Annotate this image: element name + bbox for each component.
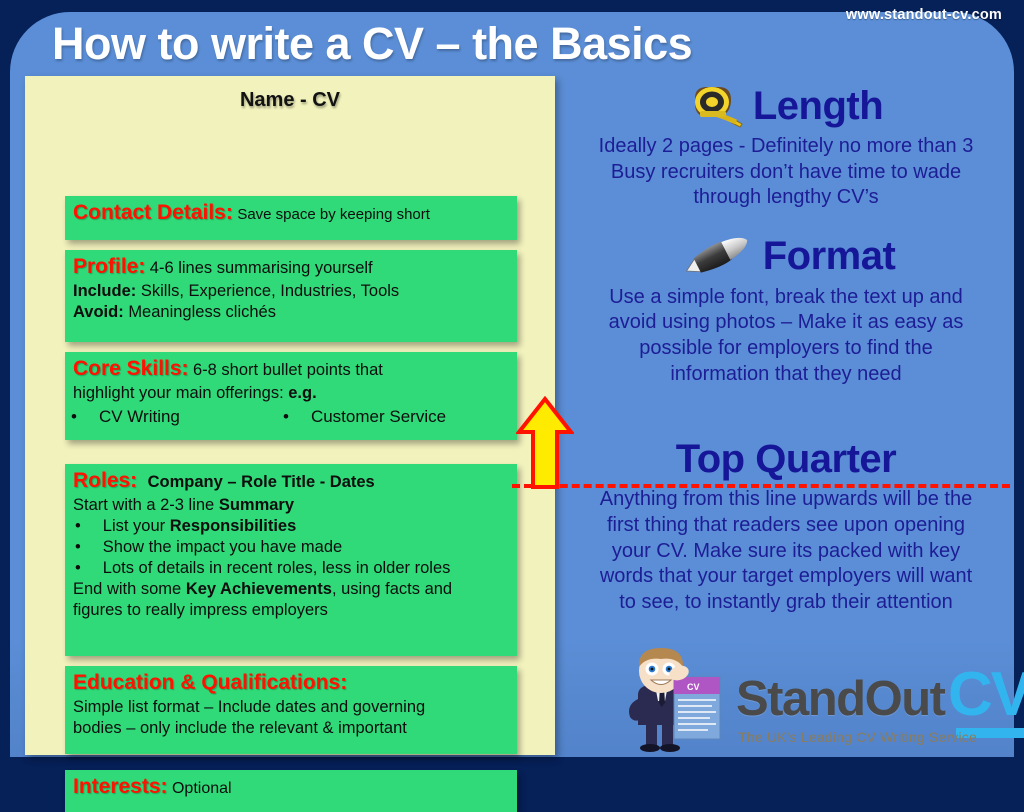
top-quarter-line-1: Anything from this line upwards will be … (560, 487, 1012, 513)
right-column: Length Ideally 2 pages - Definitely no m… (560, 84, 1012, 389)
tape-measure-icon (689, 84, 745, 128)
interests-text: Optional (172, 780, 232, 797)
top-quarter-line-2: first thing that readers see upon openin… (560, 513, 1012, 539)
length-heading: Length (753, 86, 883, 126)
profile-heading: Profile: (73, 255, 145, 278)
roles-summary-pre: Start with a 2-3 line (73, 496, 219, 514)
profile-text: 4-6 lines summarising yourself (150, 259, 373, 277)
roles-bullet-1-bold: Responsibilities (170, 517, 297, 535)
format-body: Use a simple font, break the text up and… (560, 285, 1012, 387)
roles-bullet-3: •Lots of details in recent roles, less i… (75, 558, 509, 579)
top-quarter-line-3: your CV. Make sure its packed with key (560, 539, 1012, 565)
cv-section-core-skills: Core Skills: 6-8 short bullet points tha… (65, 352, 517, 440)
interests-heading: Interests: (73, 775, 168, 798)
roles-title-line: Roles: Company – Role Title - Dates (73, 468, 509, 495)
length-block: Length Ideally 2 pages - Definitely no m… (560, 84, 1012, 211)
education-line-1: Simple list format – Include dates and g… (73, 697, 509, 718)
profile-include-line: Include: Skills, Experience, Industries,… (73, 281, 509, 302)
core-skills-text-1: 6-8 short bullet points that (193, 361, 383, 379)
roles-end-bold: Key Achievements (186, 580, 332, 598)
interests-line: Interests: Optional (73, 774, 509, 801)
standout-cv-logo[interactable]: CV StandOut CV The UK's Leading CV Writi… (608, 645, 1012, 753)
format-line-4: information that they need (560, 362, 1012, 388)
core-skills-bullet-row: •CV Writing •Customer Service (71, 406, 509, 428)
roles-summary-line: Start with a 2-3 line Summary (73, 495, 509, 516)
top-quarter-heading: Top Quarter (560, 437, 1012, 482)
core-skills-bullet-1: •CV Writing (71, 406, 283, 428)
logo-tagline: The UK's Leading CV Writing Service (738, 729, 977, 745)
contact-details-heading: Contact Details: (73, 201, 233, 224)
profile-line-1: Profile: 4-6 lines summarising yourself (73, 254, 509, 281)
cv-mockup-panel: Name - CV Contact Details: Save space by… (25, 76, 555, 755)
bullet-dot-icon: • (283, 407, 289, 426)
roles-bullet-1-pre: List your (103, 517, 170, 535)
pen-icon (677, 233, 755, 279)
core-skills-line-1: Core Skills: 6-8 short bullet points tha… (73, 356, 509, 383)
roles-end-line-1: End with some Key Achievements, using fa… (73, 579, 509, 600)
profile-include-label: Include: (73, 282, 136, 300)
length-line-3: through lengthy CV’s (560, 185, 1012, 211)
top-quarter-line-4: words that your target employers will wa… (560, 564, 1012, 590)
roles-subheading: Company – Role Title - Dates (148, 473, 375, 491)
roles-end-line-2: figures to really impress employers (73, 600, 509, 621)
top-quarter-divider-line (512, 484, 1010, 488)
top-quarter-line-5: to see, to instantly grab their attentio… (560, 590, 1012, 616)
core-skills-line-2: highlight your main offerings: e.g. (73, 383, 509, 404)
education-heading: Education & Qualifications: (73, 670, 509, 697)
cv-section-education: Education & Qualifications: Simple list … (65, 666, 517, 754)
format-heading: Format (763, 236, 896, 276)
roles-end-post: , using facts and (332, 580, 452, 598)
cv-section-interests: Interests: Optional (65, 770, 517, 812)
length-line-2: Busy recruiters don’t have time to wade (560, 160, 1012, 186)
infographic-canvas: www.standout-cv.com How to write a CV – … (0, 0, 1024, 769)
bullet-dot-icon: • (71, 407, 77, 426)
cv-section-roles: Roles: Company – Role Title - Dates Star… (65, 464, 517, 656)
profile-avoid-line: Avoid: Meaningless clichés (73, 302, 509, 323)
cv-section-contact-details: Contact Details: Save space by keeping s… (65, 196, 517, 240)
core-skills-bullet-1-label: CV Writing (99, 407, 180, 426)
contact-details-line: Contact Details: Save space by keeping s… (73, 200, 509, 227)
core-skills-eg: e.g. (288, 384, 316, 402)
cv-section-profile: Profile: 4-6 lines summarising yourself … (65, 250, 517, 342)
length-heading-row: Length (560, 84, 1012, 128)
cv-name-header: Name - CV (25, 89, 555, 112)
profile-avoid-label: Avoid: (73, 303, 124, 321)
core-skills-heading: Core Skills: (73, 357, 189, 380)
length-body: Ideally 2 pages - Definitely no more tha… (560, 134, 1012, 211)
core-skills-text-2: highlight your main offerings: (73, 384, 284, 402)
core-skills-bullet-2: •Customer Service (283, 406, 495, 428)
core-skills-bullet-2-label: Customer Service (311, 407, 446, 426)
format-line-1: Use a simple font, break the text up and (560, 285, 1012, 311)
profile-avoid-text: Meaningless clichés (128, 303, 276, 321)
format-heading-row: Format (560, 233, 1012, 279)
roles-heading: Roles: (73, 469, 137, 492)
bullet-dot-icon: • (75, 517, 81, 535)
page-title: How to write a CV – the Basics (52, 18, 692, 70)
education-line-2: bodies – only include the relevant & imp… (73, 718, 509, 739)
roles-bullet-2: •Show the impact you have made (75, 537, 509, 558)
length-line-1: Ideally 2 pages - Definitely no more tha… (560, 134, 1012, 160)
bullet-dot-icon: • (75, 538, 81, 556)
contact-details-text: Save space by keeping short (237, 206, 430, 223)
roles-bullet-3-label: Lots of details in recent roles, less in… (103, 559, 451, 577)
format-line-2: avoid using photos – Make it as easy as (560, 310, 1012, 336)
top-quarter-block: Top Quarter Anything from this line upwa… (560, 437, 1012, 616)
svg-text:CV: CV (687, 682, 700, 692)
logo-brand-first: StandOut (736, 671, 944, 727)
roles-bullet-2-label: Show the impact you have made (103, 538, 342, 556)
format-block: Format Use a simple font, break the text… (560, 233, 1012, 387)
roles-bullet-1: •List your Responsibilities (75, 516, 509, 537)
site-url: www.standout-cv.com (846, 7, 1002, 23)
top-quarter-body: Anything from this line upwards will be … (560, 487, 1012, 616)
format-line-3: possible for employers to find the (560, 336, 1012, 362)
mascot-icon: CV (608, 647, 728, 753)
logo-brand-second: CV (948, 659, 1024, 730)
roles-summary-bold: Summary (219, 496, 294, 514)
profile-include-text: Skills, Experience, Industries, Tools (141, 282, 399, 300)
roles-end-pre: End with some (73, 580, 186, 598)
up-arrow-icon (516, 396, 574, 490)
bullet-dot-icon: • (75, 559, 81, 577)
